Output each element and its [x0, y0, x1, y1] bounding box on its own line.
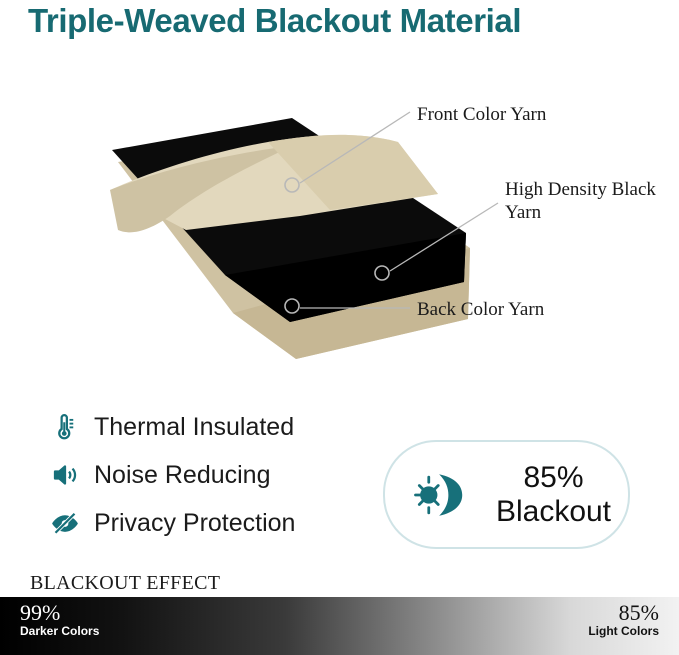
blackout-effect-title: BLACKOUT EFFECT [30, 572, 220, 595]
darker-colors-percent: 99% [20, 600, 99, 625]
blackout-percent: 85% [479, 461, 628, 495]
feature-label: Thermal Insulated [94, 413, 294, 442]
gradient-bar-right-legend: 85% Light Colors [588, 600, 659, 639]
page-title: Triple-Weaved Blackout Material [28, 2, 668, 40]
feature-list: Thermal Insulated Noise Reducing Privacy… [48, 405, 378, 549]
blackout-word: Blackout [479, 495, 628, 529]
blackout-badge-text: 85% Blackout [479, 461, 628, 528]
feature-thermal-insulated: Thermal Insulated [48, 405, 378, 449]
fabric-layers-diagram: Front Color Yarn High Density Black Yarn… [0, 70, 679, 360]
feature-label: Privacy Protection [94, 509, 295, 538]
blackout-badge: 85% Blackout [383, 440, 630, 549]
blackout-effect-gradient-bar: 99% Darker Colors 85% Light Colors [0, 597, 679, 655]
callout-label-front-color-yarn: Front Color Yarn [417, 103, 546, 126]
feature-noise-reducing: Noise Reducing [48, 453, 378, 497]
eye-slash-icon [48, 506, 82, 540]
callout-label-back-color-yarn: Back Color Yarn [417, 298, 544, 321]
thermometer-icon [48, 410, 82, 444]
feature-label: Noise Reducing [94, 461, 271, 490]
light-colors-label: Light Colors [588, 625, 659, 639]
gradient-bar-left-legend: 99% Darker Colors [20, 600, 99, 639]
speaker-sound-icon [48, 458, 82, 492]
sun-blocked-icon [407, 464, 469, 526]
callout-label-high-density-black-yarn: High Density Black Yarn [505, 178, 665, 224]
light-colors-percent: 85% [588, 600, 659, 625]
darker-colors-label: Darker Colors [20, 625, 99, 639]
feature-privacy-protection: Privacy Protection [48, 501, 378, 545]
